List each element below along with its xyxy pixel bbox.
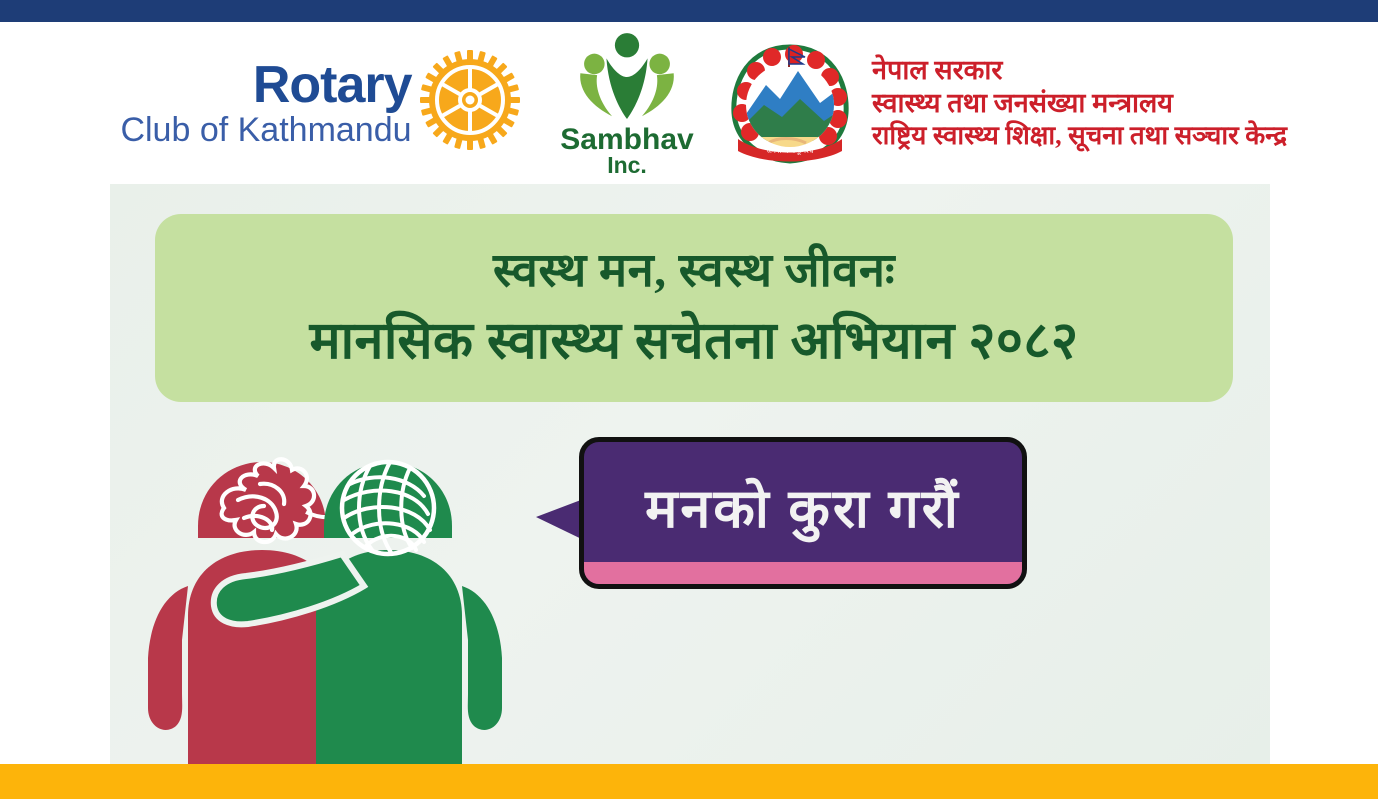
slide-content-panel: स्वस्थ मन, स्वस्थ जीवनः मानसिक स्वास्थ्य…: [110, 184, 1270, 764]
logo-row: Rotary Club of Kathmandu: [110, 22, 1300, 184]
two-people-support-illustration: [120, 426, 550, 764]
rotary-name: Rotary: [253, 59, 412, 111]
sambhav-logo: Sambhav Inc.: [552, 23, 702, 183]
header-logo-strip: Rotary Club of Kathmandu: [0, 22, 1378, 184]
speech-bubble: मनको कुरा गरौं: [579, 437, 1027, 589]
nepal-emblem-icon: जननी जन्मभूमिश्च: [720, 33, 860, 173]
nepal-government-logo: जननी जन्मभूमिश्च नेपाल सरकार स्वास्थ्य त…: [720, 23, 1287, 183]
rotary-wheel-icon: [420, 50, 520, 150]
gov-line-2: स्वास्थ्य तथा जनसंख्या मन्त्रालय: [872, 87, 1287, 120]
speech-bubble-group: मनको कुरा गरौं: [534, 437, 984, 597]
speech-bubble-accent-strip: [584, 562, 1022, 584]
sambhav-people-icon: [571, 29, 683, 125]
rotary-club-name: Club of Kathmandu: [120, 113, 411, 147]
rotary-wordmark: Rotary Club of Kathmandu: [120, 59, 419, 147]
campaign-title-banner: स्वस्थ मन, स्वस्थ जीवनः मानसिक स्वास्थ्य…: [155, 214, 1233, 402]
top-accent-bar: [0, 0, 1378, 22]
bottom-accent-bar: [0, 764, 1378, 799]
campaign-title-line-1: स्वस्थ मन, स्वस्थ जीवनः: [493, 244, 895, 298]
rotary-club-logo: Rotary Club of Kathmandu: [110, 28, 530, 178]
sambhav-suffix: Inc.: [607, 154, 647, 177]
svg-text:जननी जन्मभूमिश्च: जननी जन्मभूमिश्च: [767, 146, 814, 155]
gov-line-1: नेपाल सरकार: [872, 54, 1287, 87]
campaign-title-line-2: मानसिक स्वास्थ्य सचेतना अभियान २०८२: [309, 312, 1078, 372]
government-text-block: नेपाल सरकार स्वास्थ्य तथा जनसंख्या मन्त्…: [872, 54, 1287, 152]
gov-line-3: राष्ट्रिय स्वास्थ्य शिक्षा, सूचना तथा सञ…: [872, 120, 1287, 152]
sambhav-name: Sambhav: [560, 126, 693, 155]
speech-bubble-text: मनको कुरा गरौं: [645, 469, 961, 543]
